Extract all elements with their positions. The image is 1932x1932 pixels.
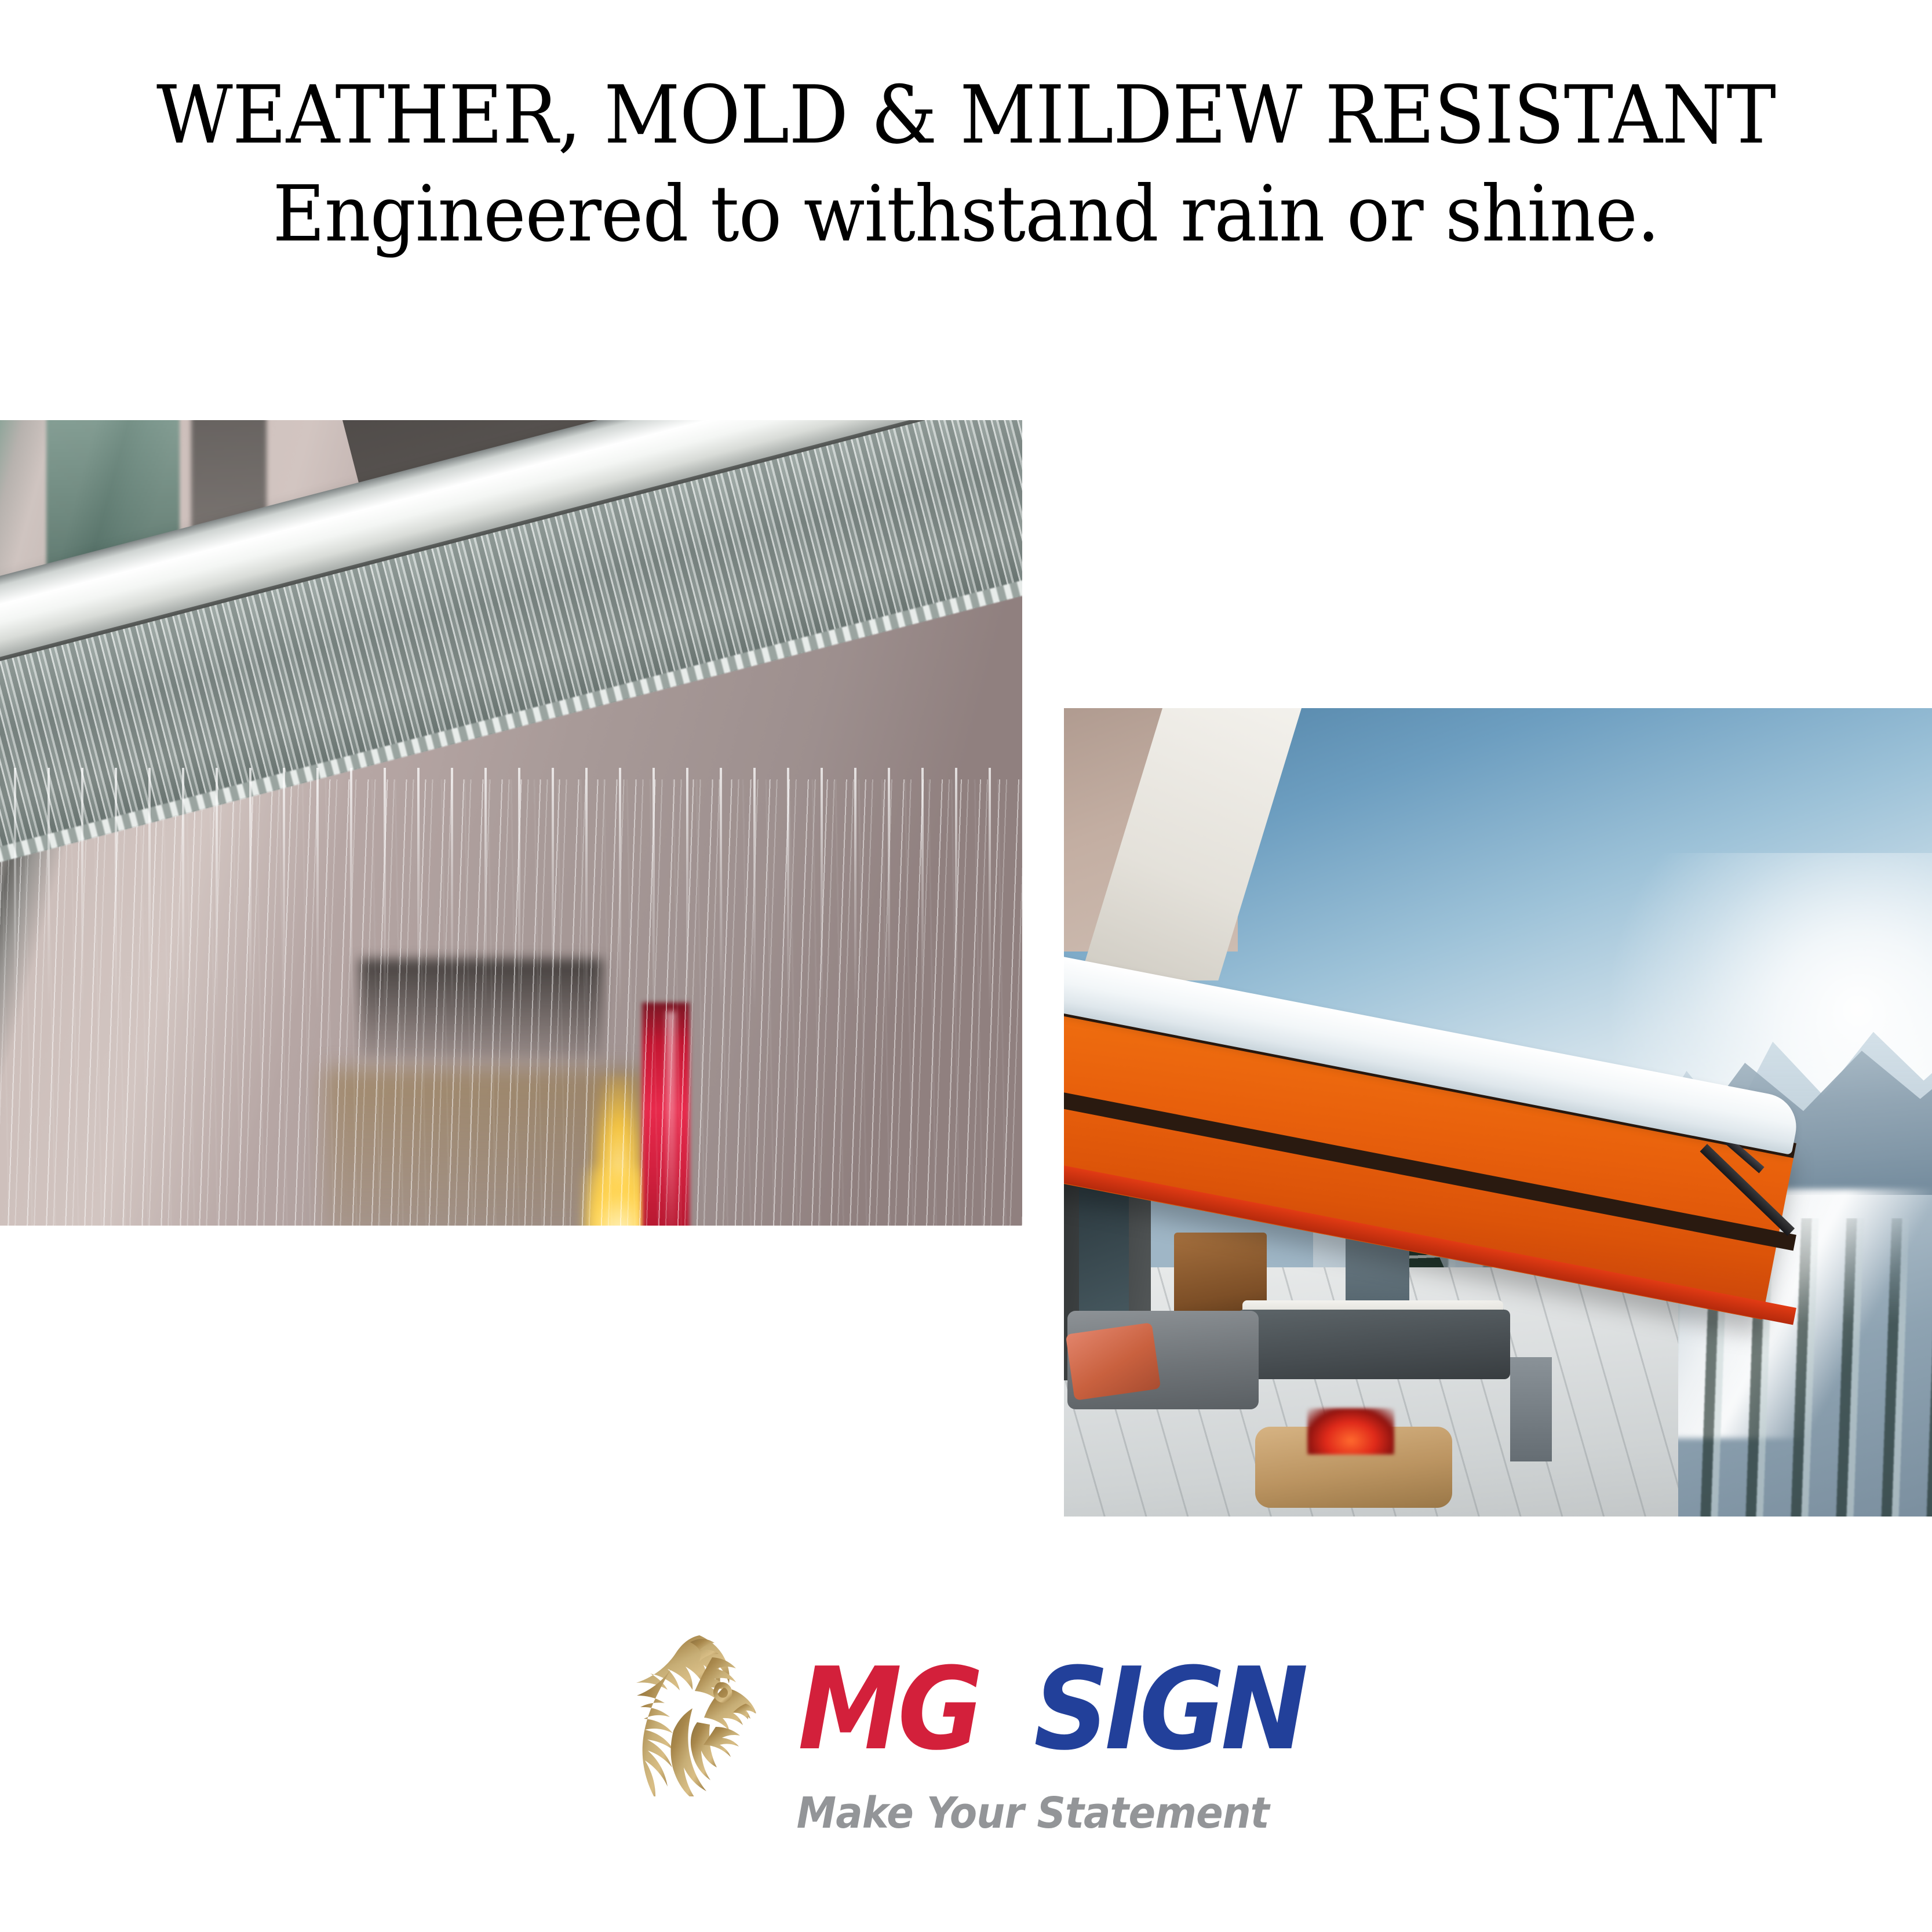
rain-photo — [0, 420, 1022, 1226]
page-title: WEATHER, MOLD & MILDEW RESISTANT — [68, 68, 1865, 163]
snow-photo — [1064, 708, 1932, 1517]
brand-logo: MG SIGN Make Your Statement — [0, 1623, 1932, 1866]
orange-cushion — [1066, 1322, 1161, 1401]
tall-planter — [1510, 1357, 1552, 1461]
page-subtitle: Engineered to withstand rain or shine. — [68, 166, 1865, 263]
logo-text-sign: SIGN — [1034, 1653, 1304, 1766]
rain-drips — [0, 768, 1022, 1011]
fire-bowl — [1307, 1408, 1394, 1455]
headline-block: WEATHER, MOLD & MILDEW RESISTANT Enginee… — [0, 68, 1932, 263]
lion-head-icon — [604, 1623, 778, 1796]
logo-row: MG SIGN — [604, 1623, 1328, 1796]
logo-text-mg: MG — [798, 1653, 979, 1766]
snow-awning — [1064, 917, 1858, 1322]
logo-tagline: Make Your Statement — [796, 1788, 1268, 1838]
